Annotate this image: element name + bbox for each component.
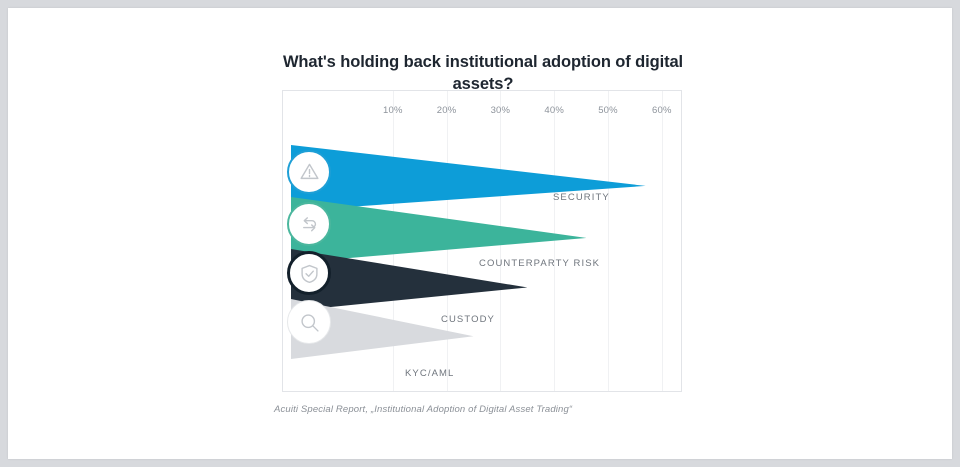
- page-title: What's holding back institutional adopti…: [273, 52, 693, 96]
- chart-panel: 10%20%30%40%50%60% SECURITYCOUNTERPARTY …: [282, 90, 682, 392]
- bar-label-kyc-aml: KYC/AML: [405, 368, 454, 379]
- swap-arrows-icon-badge: [287, 202, 331, 246]
- slide-card: What's holding back institutional adopti…: [8, 8, 952, 459]
- magnifier-icon: [297, 310, 322, 335]
- bar-series: SECURITYCOUNTERPARTY RISKCUSTODYKYC/AML: [283, 91, 681, 391]
- chart-slide: What's holding back institutional adopti…: [8, 8, 952, 459]
- warning-icon-badge: [287, 150, 331, 194]
- swap-arrows-icon: [297, 211, 322, 236]
- warning-icon: [297, 159, 322, 184]
- magnifier-icon-badge: [287, 300, 331, 344]
- shield-check-icon: [297, 261, 322, 286]
- source-caption: Acuiti Special Report, „Institutional Ad…: [274, 404, 694, 415]
